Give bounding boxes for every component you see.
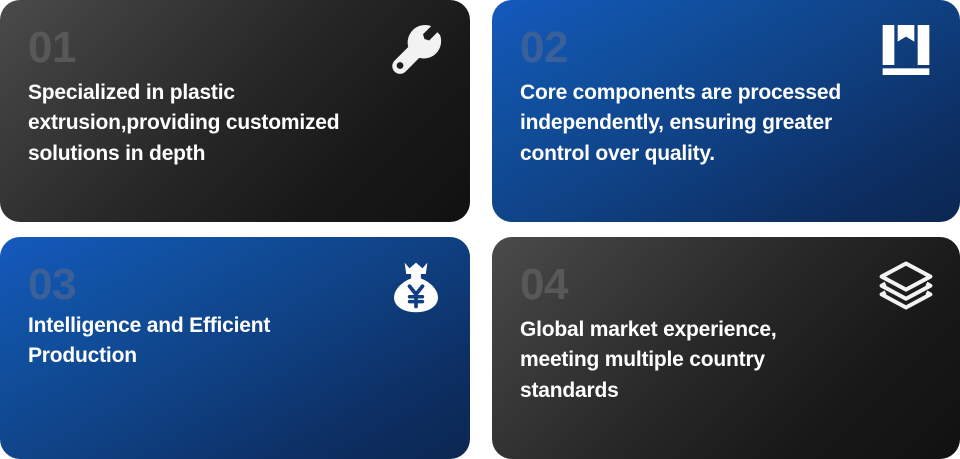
feature-card-01[interactable]: 01 Specialized in plastic extrusion,prov… xyxy=(0,0,470,222)
card-number-02: 02 xyxy=(520,26,932,70)
card-number-01: 01 xyxy=(28,26,442,70)
card-text-01: Specialized in plastic extrusion,providi… xyxy=(28,78,442,169)
card-text-03: Intelligence and Efficient Production xyxy=(28,311,442,372)
feature-card-02[interactable]: 02 Core components are processed indepen… xyxy=(492,0,960,222)
feature-card-grid: 01 Specialized in plastic extrusion,prov… xyxy=(0,0,960,459)
card-text-04: Global market experience, meeting multip… xyxy=(520,315,932,406)
card-text-02: Core components are processed independen… xyxy=(520,78,932,169)
feature-card-03[interactable]: 03 Intelligence and Efficient Production xyxy=(0,237,470,459)
feature-card-04[interactable]: 04 Global market experience, meeting mul… xyxy=(492,237,960,459)
card-number-03: 03 xyxy=(28,263,442,307)
card-number-04: 04 xyxy=(520,263,932,307)
